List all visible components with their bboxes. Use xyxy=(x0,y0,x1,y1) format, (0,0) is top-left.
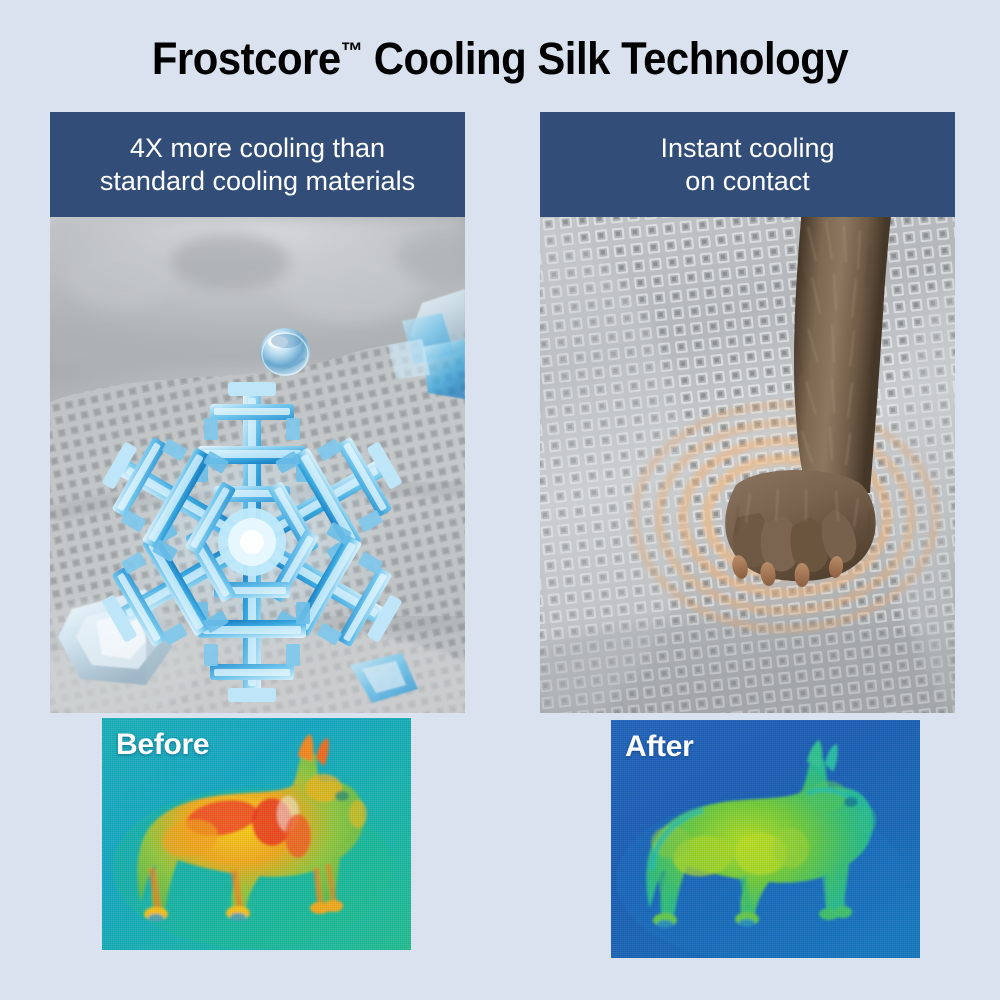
panel-left: 4X more cooling than standard cooling ma… xyxy=(50,112,465,713)
panel-right-header-line2: on contact xyxy=(660,165,834,198)
panel-left-header-line1: 4X more cooling than xyxy=(100,132,415,165)
page-title-brand: Frostcore xyxy=(152,33,341,84)
panel-right-header-line1: Instant cooling xyxy=(660,132,834,165)
dog-paw-fabric-photo xyxy=(540,217,955,713)
panel-right: Instant cooling on contact xyxy=(540,112,955,713)
snowflake-ice-fabric-photo xyxy=(50,217,465,713)
thermal-image-after: After xyxy=(611,720,920,958)
panel-right-header: Instant cooling on contact xyxy=(540,112,955,217)
infographic-root: Frostcore™ Cooling Silk Technology 4X mo… xyxy=(0,0,1000,1000)
panel-left-header-line2: standard cooling materials xyxy=(100,165,415,198)
panel-left-header: 4X more cooling than standard cooling ma… xyxy=(50,112,465,217)
page-title-suffix: Cooling Silk Technology xyxy=(363,33,849,84)
page-title: Frostcore™ Cooling Silk Technology xyxy=(35,33,965,85)
trademark-symbol: ™ xyxy=(341,38,363,65)
thermal-image-before: Before xyxy=(102,718,411,950)
